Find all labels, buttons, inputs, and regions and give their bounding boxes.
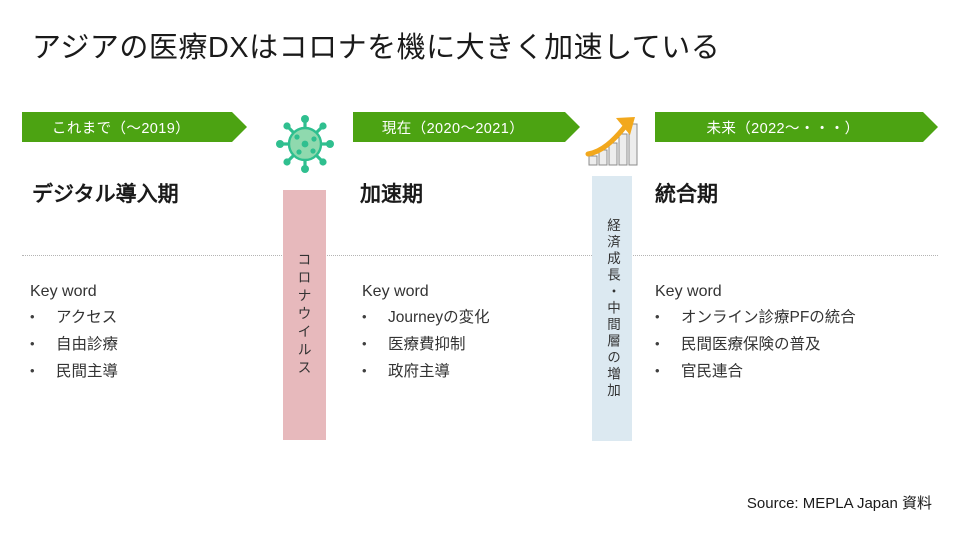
keyword-list: • オンライン診療PFの統合 • 民間医療保険の普及 • 官民連合 — [655, 309, 856, 380]
bullet-icon: • — [655, 309, 681, 326]
list-item: • 民間主導 — [30, 363, 118, 381]
bullet-icon: • — [362, 363, 388, 380]
keyword-heading: Key word — [30, 283, 118, 301]
virus-icon — [273, 112, 337, 176]
keyword-text: Journeyの変化 — [388, 309, 490, 327]
keyword-block-past: Key word • アクセス • 自由診療 • 民間主導 — [30, 283, 118, 389]
list-item: • 医療費抑制 — [362, 336, 490, 354]
bullet-icon: • — [362, 309, 388, 326]
bullet-icon: • — [30, 363, 56, 380]
bullet-icon: • — [655, 363, 681, 380]
keyword-text: アクセス — [56, 309, 117, 327]
bullet-icon: • — [362, 336, 388, 353]
bullet-icon: • — [30, 336, 56, 353]
keyword-block-future: Key word • オンライン診療PFの統合 • 民間医療保険の普及 • 官民… — [655, 283, 856, 389]
keyword-block-present: Key word • Journeyの変化 • 医療費抑制 • 政府主導 — [362, 283, 490, 389]
phase-title-past: デジタル導入期 — [32, 178, 179, 208]
keyword-text: 医療費抑制 — [388, 336, 466, 354]
keyword-text: オンライン診療PFの統合 — [681, 309, 856, 327]
keyword-list: • Journeyの変化 • 医療費抑制 • 政府主導 — [362, 309, 490, 380]
page-title: アジアの医療DXはコロナを機に大きく加速している — [32, 24, 720, 66]
phase-banner-future-label: 未来（2022〜・・・） — [706, 117, 859, 138]
keyword-text: 民間主導 — [56, 363, 118, 381]
phase-title-future: 統合期 — [655, 178, 718, 208]
keyword-heading: Key word — [362, 283, 490, 301]
list-item: • 政府主導 — [362, 363, 490, 381]
list-item: • オンライン診療PFの統合 — [655, 309, 856, 327]
section-divider — [22, 255, 938, 256]
list-item: • 官民連合 — [655, 363, 856, 381]
list-item: • アクセス — [30, 309, 118, 327]
phase-banner-present[interactable]: 現在（2020〜2021） — [353, 112, 565, 142]
list-item: • Journeyの変化 — [362, 309, 490, 327]
source-note: Source: MEPLA Japan 資料 — [747, 492, 932, 513]
vertical-band-economic-growth: 経済成長・中間層の増加 — [592, 176, 632, 441]
list-item: • 民間医療保険の普及 — [655, 336, 856, 354]
phase-banner-present-label: 現在（2020〜2021） — [382, 117, 524, 138]
phase-banner-past[interactable]: これまで（〜2019） — [22, 112, 232, 142]
phase-banner-past-label: これまで（〜2019） — [52, 117, 190, 138]
keyword-text: 官民連合 — [681, 363, 743, 381]
bullet-icon: • — [655, 336, 681, 353]
list-item: • 自由診療 — [30, 336, 118, 354]
keyword-heading: Key word — [655, 283, 856, 301]
phase-banner-future[interactable]: 未来（2022〜・・・） — [655, 112, 923, 142]
keyword-text: 自由診療 — [56, 336, 118, 354]
vertical-band-coronavirus: コロナウイルス — [283, 190, 326, 440]
keyword-list: • アクセス • 自由診療 • 民間主導 — [30, 309, 118, 380]
keyword-text: 政府主導 — [388, 363, 450, 381]
growth-chart-icon — [583, 112, 645, 168]
slide-canvas: アジアの医療DXはコロナを機に大きく加速している これまで（〜2019） 現在（… — [0, 0, 960, 540]
bullet-icon: • — [30, 309, 56, 326]
phase-title-present: 加速期 — [360, 178, 423, 208]
keyword-text: 民間医療保険の普及 — [681, 336, 821, 354]
